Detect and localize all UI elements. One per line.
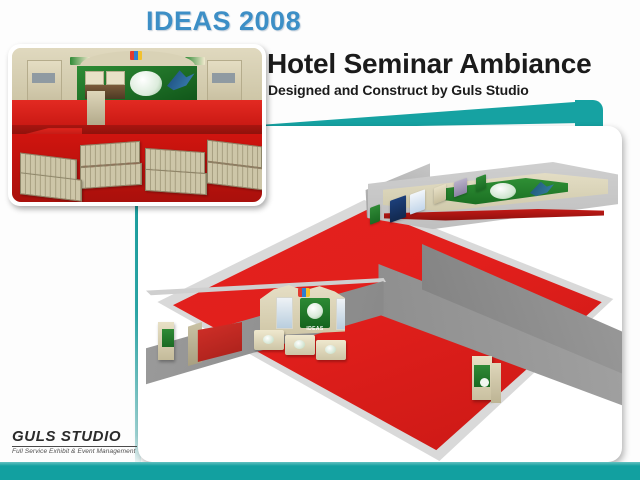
page-title: Hotel Seminar Ambiance xyxy=(267,48,591,80)
photo-window-left xyxy=(32,73,55,84)
wall-banner-green-1 xyxy=(370,204,380,225)
booth-panel-right xyxy=(336,298,352,330)
booth-panel-left xyxy=(276,297,293,329)
inset-photo-frame xyxy=(8,44,266,206)
inset-photo xyxy=(12,48,262,202)
booth-logo-emblem xyxy=(307,303,323,319)
counter-logo-icon xyxy=(294,340,305,349)
photo-seat-block xyxy=(145,169,207,195)
kiosk-panel-side xyxy=(491,363,501,403)
kiosk-green-graphic xyxy=(474,365,490,387)
studio-logo-rule xyxy=(12,446,137,447)
booth-counter-2 xyxy=(285,335,315,355)
studio-logo-name: GULS STUDIO xyxy=(12,428,152,445)
kiosk-left-panel xyxy=(158,322,174,360)
kiosk-logo-emblem xyxy=(480,378,489,387)
teal-wedge-accent xyxy=(252,100,602,129)
studio-logo: GULS STUDIO Full Service Exhibit & Event… xyxy=(12,428,152,455)
counter-logo-icon xyxy=(325,345,336,354)
photo-window-right xyxy=(212,73,235,84)
page-subtitle: Designed and Construct by Guls Studio xyxy=(268,82,529,98)
kiosk-panel-front xyxy=(472,356,492,400)
teal-wedge-cap xyxy=(575,100,603,129)
banner-kiosk-left xyxy=(156,318,186,366)
counter-logo-icon xyxy=(263,335,274,344)
photo-banner-swatch-1 xyxy=(85,71,105,85)
photo-banner-swatch-2 xyxy=(106,71,126,85)
booth-counter-3 xyxy=(316,340,346,360)
booth-flag-icon xyxy=(298,288,310,297)
photo-logo-emblem xyxy=(130,71,163,96)
registration-booth: IDEAS xyxy=(250,284,355,356)
teal-footer-band xyxy=(0,462,640,480)
stage-logo-emblem xyxy=(490,183,516,199)
kiosk-left-green-graphic xyxy=(162,329,174,347)
studio-logo-tagline: Full Service Exhibit & Event Management xyxy=(12,448,152,455)
banner-kiosk-right xyxy=(472,350,512,406)
booth-counter-1 xyxy=(254,330,284,350)
photo-seat-block xyxy=(80,163,142,189)
booth-ideas-label: IDEAS xyxy=(301,326,329,332)
photo-flag-icon xyxy=(130,51,143,60)
photo-podium xyxy=(87,91,105,125)
slide-canvas: IDEAS 2008 Hotel Seminar Ambiance Design… xyxy=(0,0,640,480)
eyebrow-title: IDEAS 2008 xyxy=(146,6,301,37)
